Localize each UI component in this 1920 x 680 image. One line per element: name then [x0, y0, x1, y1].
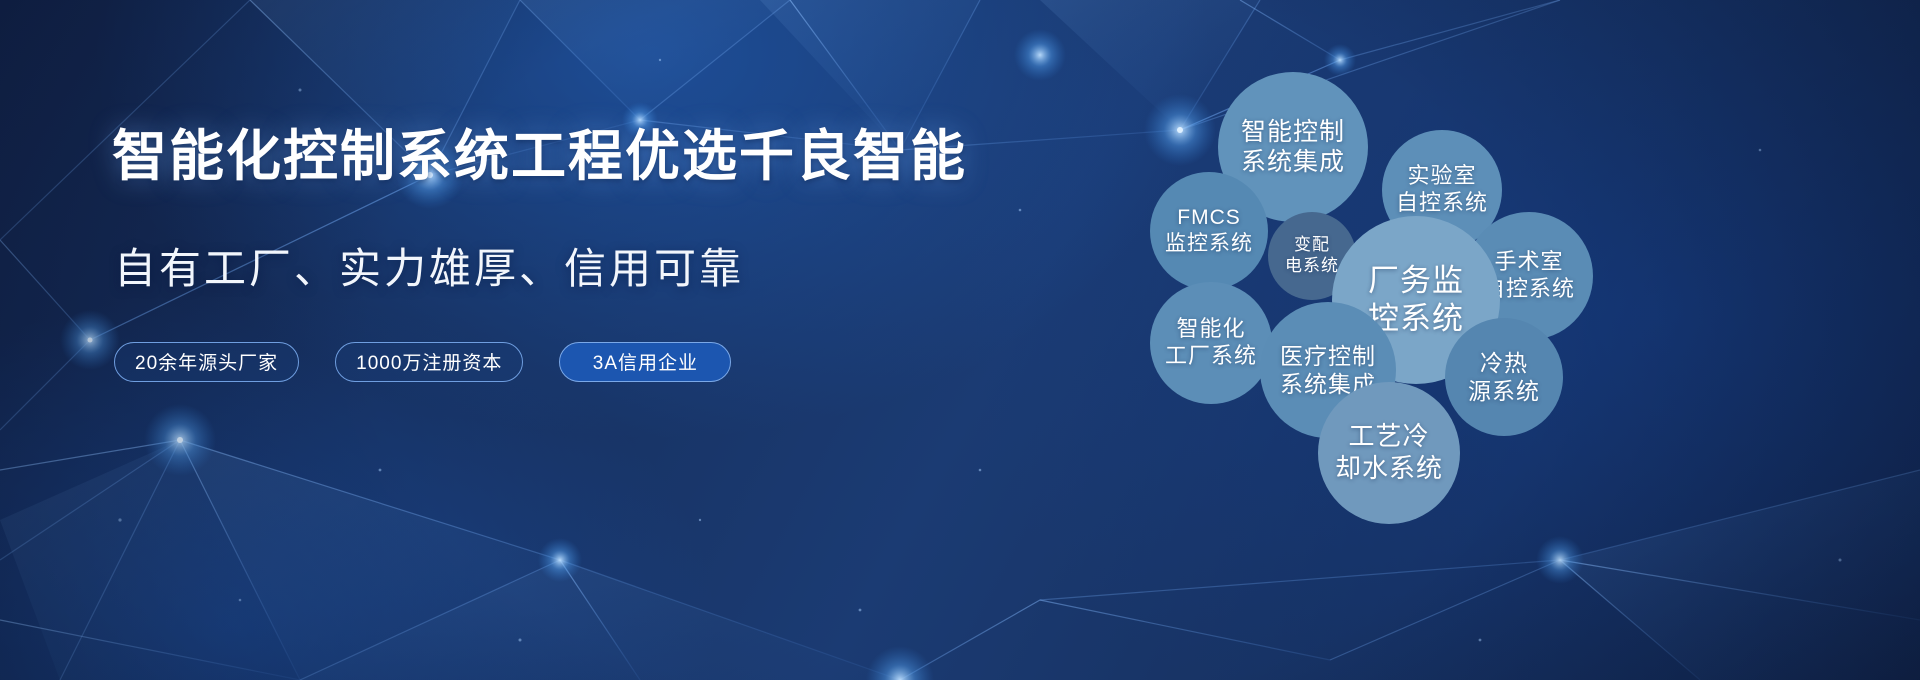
badge-label: 3A信用企业	[593, 348, 698, 375]
service-bubble[interactable]: 智能化 工厂系统	[1150, 282, 1272, 404]
badge-label: 20余年源头厂家	[135, 348, 278, 375]
service-bubble-label: 冷热 源系统	[1468, 349, 1540, 405]
service-bubble[interactable]: FMCS 监控系统	[1150, 172, 1268, 290]
banner-subtitle: 自有工厂、实力雄厚、信用可靠	[114, 244, 972, 294]
promotional-banner: 智能化控制系统工程优选千良智能 自有工厂、实力雄厚、信用可靠 20余年源头厂家 …	[0, 0, 1920, 680]
service-bubble[interactable]: 工艺冷 却水系统	[1318, 382, 1460, 524]
service-bubble-cluster: 智能控制 系统集成实验室 自控系统手术室 自控系统FMCS 监控系统变配 电系统…	[1150, 30, 1890, 660]
service-bubble-label: 厂务监 控系统	[1368, 262, 1464, 338]
service-bubble-label: 变配 电系统	[1285, 235, 1339, 276]
badge-years-manufacturer[interactable]: 20余年源头厂家	[114, 342, 299, 382]
badge-label: 1000万注册资本	[356, 348, 502, 375]
badge-registered-capital[interactable]: 1000万注册资本	[335, 342, 523, 382]
service-bubble-label: 实验室 自控系统	[1396, 163, 1488, 217]
service-bubble-label: FMCS 监控系统	[1165, 205, 1253, 256]
service-bubble[interactable]: 冷热 源系统	[1445, 318, 1563, 436]
service-bubble-label: 工艺冷 却水系统	[1335, 421, 1443, 484]
service-bubble-label: 智能化 工厂系统	[1165, 316, 1257, 370]
banner-copy: 智能化控制系统工程优选千良智能 自有工厂、实力雄厚、信用可靠 20余年源头厂家 …	[112, 126, 972, 382]
service-bubble-label: 智能控制 系统集成	[1241, 117, 1345, 178]
badge-credit-rating[interactable]: 3A信用企业	[559, 342, 731, 382]
page-title: 智能化控制系统工程优选千良智能	[112, 126, 972, 188]
feature-badge-group: 20余年源头厂家 1000万注册资本 3A信用企业	[114, 342, 972, 382]
